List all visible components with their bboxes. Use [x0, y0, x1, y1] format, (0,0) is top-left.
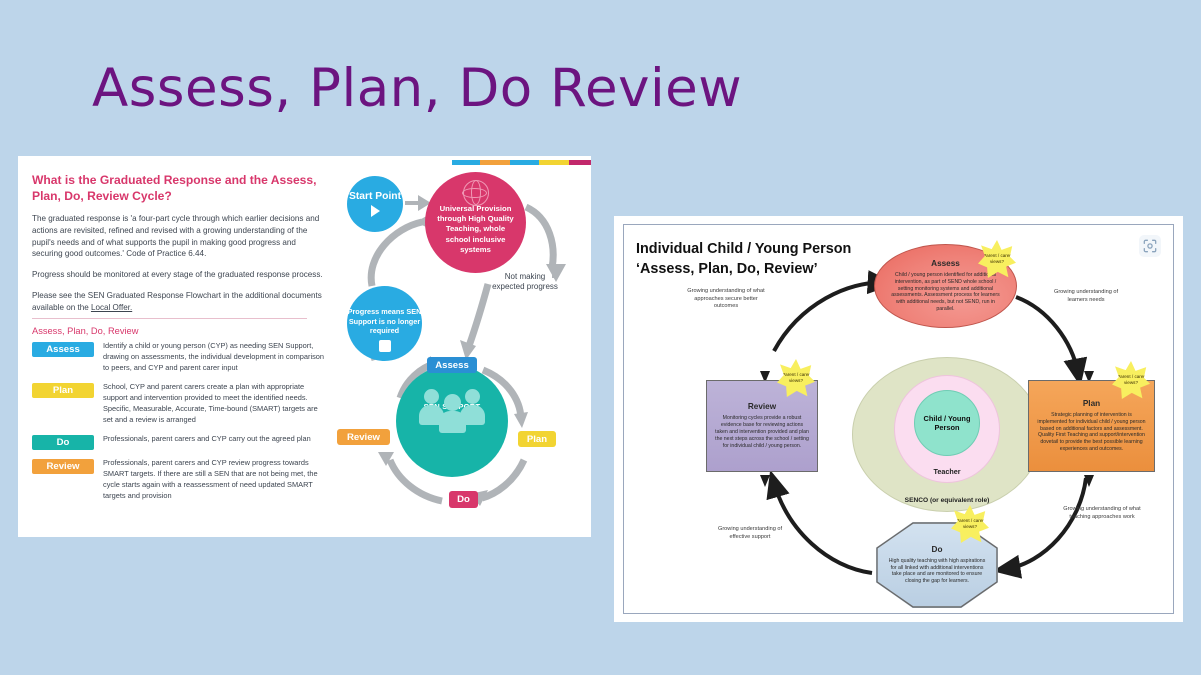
infographic-paragraph-1: The graduated response is 'a four-part c… [32, 213, 327, 260]
list-item: Review Professionals, parent carers and … [32, 458, 327, 502]
legend-text-assess: Identify a child or young person (CYP) a… [103, 341, 327, 374]
ring-teacher-label: Teacher [933, 467, 960, 482]
three-people-icon [418, 385, 486, 425]
cycle-node-progress-exit: Progress means SEN Support is no longer … [347, 286, 422, 361]
universal-provision-label: Universal Provision through High Quality… [433, 204, 518, 256]
infographic-paragraph-2: Progress should be monitored at every st… [32, 269, 327, 281]
cycle-stage-plan: Plan [518, 431, 556, 447]
stage-do-text: High quality teaching with high aspirati… [888, 558, 986, 586]
annotation-teaching-approaches: Growing understanding of what teaching a… [1060, 506, 1144, 521]
list-item: Plan School, CYP and parent carers creat… [32, 382, 327, 426]
ring-child-young-person: Child / Young Person [914, 390, 980, 456]
annotation-approaches-outcomes: Growing understanding of what approaches… [684, 288, 768, 311]
legend-text-do: Professionals, parent carers and CYP car… [103, 434, 327, 450]
stage-review-name: Review [748, 402, 776, 413]
individual-cyp-cycle-panel: Individual Child / Young Person ‘Assess,… [614, 216, 1183, 622]
ring-senco-label: SENCO (or equivalent role) [905, 497, 990, 511]
graduated-response-cycle-graphic: Start Point Universal Provision through … [336, 160, 591, 537]
paragraph-3-text: Please see the SEN Graduated Response Fl… [32, 291, 322, 312]
stage-review-text: Monitoring cycles provide a robust evide… [714, 415, 810, 450]
page-title: Assess, Plan, Do Review [92, 58, 742, 119]
graduated-response-infographic: What is the Graduated Response and the A… [18, 156, 591, 537]
legend-title: Assess, Plan, Do, Review [32, 326, 138, 336]
legend-list: Assess Identify a child or young person … [32, 341, 327, 509]
legend-chip-do: Do [32, 435, 94, 450]
stage-plan-name: Plan [1083, 399, 1100, 410]
legend-chip-assess: Assess [32, 342, 94, 357]
infographic-paragraph-3: Please see the SEN Graduated Response Fl… [32, 290, 327, 313]
cycle-stage-do: Do [449, 491, 478, 508]
stop-square-icon [379, 340, 391, 352]
stage-assess-text: Child / young person identified for addi… [889, 272, 1002, 314]
cycle-node-start-point: Start Point [347, 176, 403, 232]
annotation-learners-needs: Growing understanding of learners needs [1044, 289, 1128, 304]
stage-box-review: Review Monitoring cycles provide a robus… [706, 380, 818, 472]
cycle-node-sen-support: SEN SUPPORT CYP Parent carers [396, 365, 508, 477]
legend-chip-review: Review [32, 459, 94, 474]
section-divider [32, 318, 307, 319]
diagram-frame: Individual Child / Young Person ‘Assess,… [623, 224, 1174, 614]
play-triangle-icon [371, 205, 380, 217]
legend-text-review: Professionals, parent carers and CYP rev… [103, 458, 327, 502]
not-making-progress-label: Not making expected progress [488, 272, 562, 293]
stage-plan-text: Strategic planning of intervention is im… [1036, 412, 1147, 454]
progress-exit-label: Progress means SEN Support is no longer … [347, 307, 422, 335]
globe-icon [463, 180, 489, 206]
cycle-stage-review: Review [337, 429, 390, 445]
stage-do-name: Do [932, 545, 943, 556]
list-item: Assess Identify a child or young person … [32, 341, 327, 374]
list-item: Do Professionals, parent carers and CYP … [32, 434, 327, 450]
legend-chip-plan: Plan [32, 383, 94, 398]
stage-assess-name: Assess [931, 259, 960, 270]
cycle-node-universal-provision: Universal Provision through High Quality… [425, 172, 526, 273]
cycle-stage-assess: Assess [427, 357, 477, 373]
infographic-heading: What is the Graduated Response and the A… [32, 172, 327, 204]
annotation-effective-support: Growing understanding of effective suppo… [708, 526, 792, 541]
legend-text-plan: School, CYP and parent carers create a p… [103, 382, 327, 426]
ring-cyp-label: Child / Young Person [915, 414, 979, 433]
start-point-label: Start Point [349, 191, 401, 203]
concentric-role-circles: SENCO (or equivalent role) Teacher Child… [852, 357, 1042, 512]
local-offer-link[interactable]: Local Offer. [91, 303, 132, 312]
